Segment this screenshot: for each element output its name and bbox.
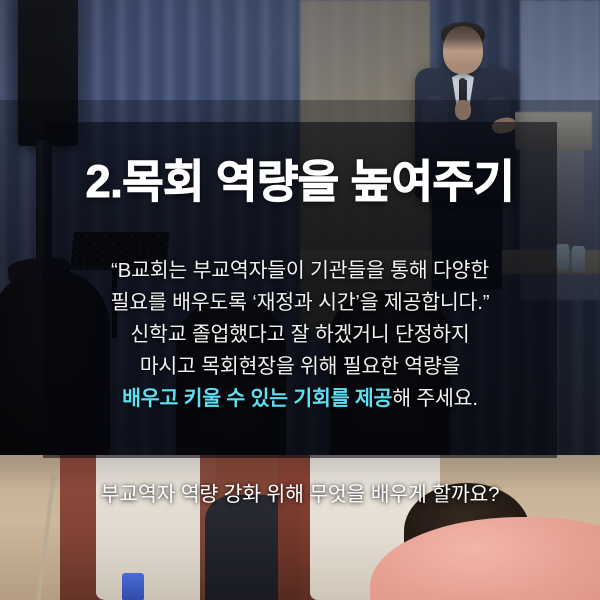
quote-line-2: 필요를 배우도록 ‘재정과 시간’을 제공합니다.” bbox=[0, 287, 600, 319]
card-root: 2.목회 역량을 높여주기 “B교회는 부교역자들이 기관들을 통해 다양한 필… bbox=[0, 0, 600, 600]
quote-line-1: “B교회는 부교역자들이 기관들을 통해 다양한 bbox=[0, 255, 600, 287]
question-text: 부교역자 역량 강화 위해 무엇을 배우게 할까요? bbox=[0, 481, 600, 509]
quote-highlight: 배우고 키울 수 있는 기회를 제공 bbox=[122, 387, 392, 410]
quote-line-4: 마시고 목회현장을 위해 필요한 역량을 bbox=[0, 351, 600, 383]
quote-line-5: 배우고 키울 수 있는 기회를 제공해 주세요. bbox=[0, 383, 600, 415]
page-title: 2.목회 역량을 높여주기 bbox=[0, 158, 600, 206]
quote-block: “B교회는 부교역자들이 기관들을 통해 다양한 필요를 배우도록 ‘재정과 시… bbox=[0, 255, 600, 415]
quote-line-3: 신학교 졸업했다고 잘 하겠거니 단정하지 bbox=[0, 319, 600, 351]
quote-line-5-plain: 해 주세요. bbox=[392, 387, 478, 410]
text-layer: 2.목회 역량을 높여주기 “B교회는 부교역자들이 기관들을 통해 다양한 필… bbox=[0, 0, 600, 600]
